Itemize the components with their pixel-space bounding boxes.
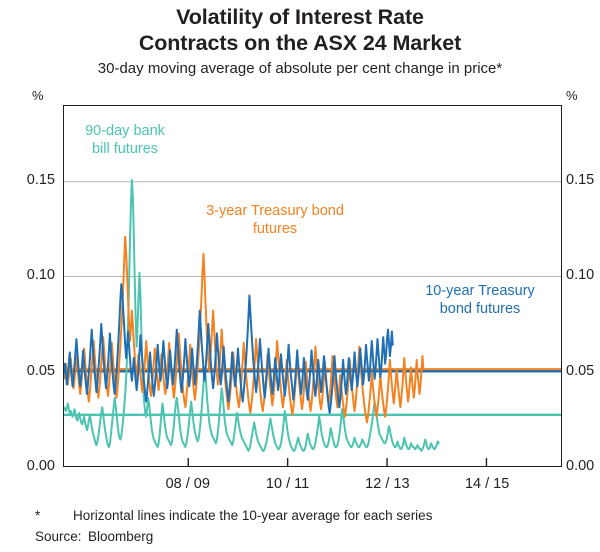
series-lines: [64, 180, 439, 451]
x-tick-label: 08 / 09: [166, 476, 210, 492]
plot-area: [63, 105, 562, 467]
x-axis-tick-marks: [188, 458, 486, 466]
source-value: Bloomberg: [88, 526, 595, 547]
x-tick-label: 10 / 11: [266, 476, 309, 492]
chart-title-block: Volatility of Interest Rate Contracts on…: [0, 4, 600, 79]
y-tick-label-left: 0.00: [5, 459, 55, 474]
footnote-row: * Horizontal lines indicate the 10-year …: [35, 505, 595, 526]
chart-title-line-2: Contracts on the ASX 24 Market: [0, 30, 600, 56]
chart-page: Volatility of Interest Rate Contracts on…: [0, 0, 600, 552]
y-tick-label-right: 0.15: [566, 173, 600, 188]
source-row: Source: Bloomberg: [35, 526, 595, 547]
series-line-2: [64, 284, 393, 413]
y-tick-label-right: 0.00: [566, 459, 600, 474]
y-axis-unit-right: %: [566, 88, 578, 103]
source-label: Source:: [35, 526, 88, 547]
y-tick-label-right: 0.10: [566, 268, 600, 283]
y-tick-label-left: 0.05: [5, 364, 55, 379]
footnote-area: * Horizontal lines indicate the 10-year …: [35, 505, 595, 547]
footnote-text: Horizontal lines indicate the 10-year av…: [73, 505, 595, 526]
y-tick-label-right: 0.05: [566, 364, 600, 379]
chart-subtitle: 30-day moving average of absolute per ce…: [0, 59, 600, 79]
y-tick-label-left: 0.10: [5, 268, 55, 283]
chart-title-line-1: Volatility of Interest Rate: [0, 4, 600, 30]
x-tick-label: 12 / 13: [365, 476, 409, 492]
y-axis-unit-left: %: [32, 88, 44, 103]
footnote-marker: *: [35, 505, 73, 526]
x-tick-label: 14 / 15: [465, 476, 509, 492]
chart-canvas: [64, 106, 561, 466]
y-tick-label-left: 0.15: [5, 173, 55, 188]
